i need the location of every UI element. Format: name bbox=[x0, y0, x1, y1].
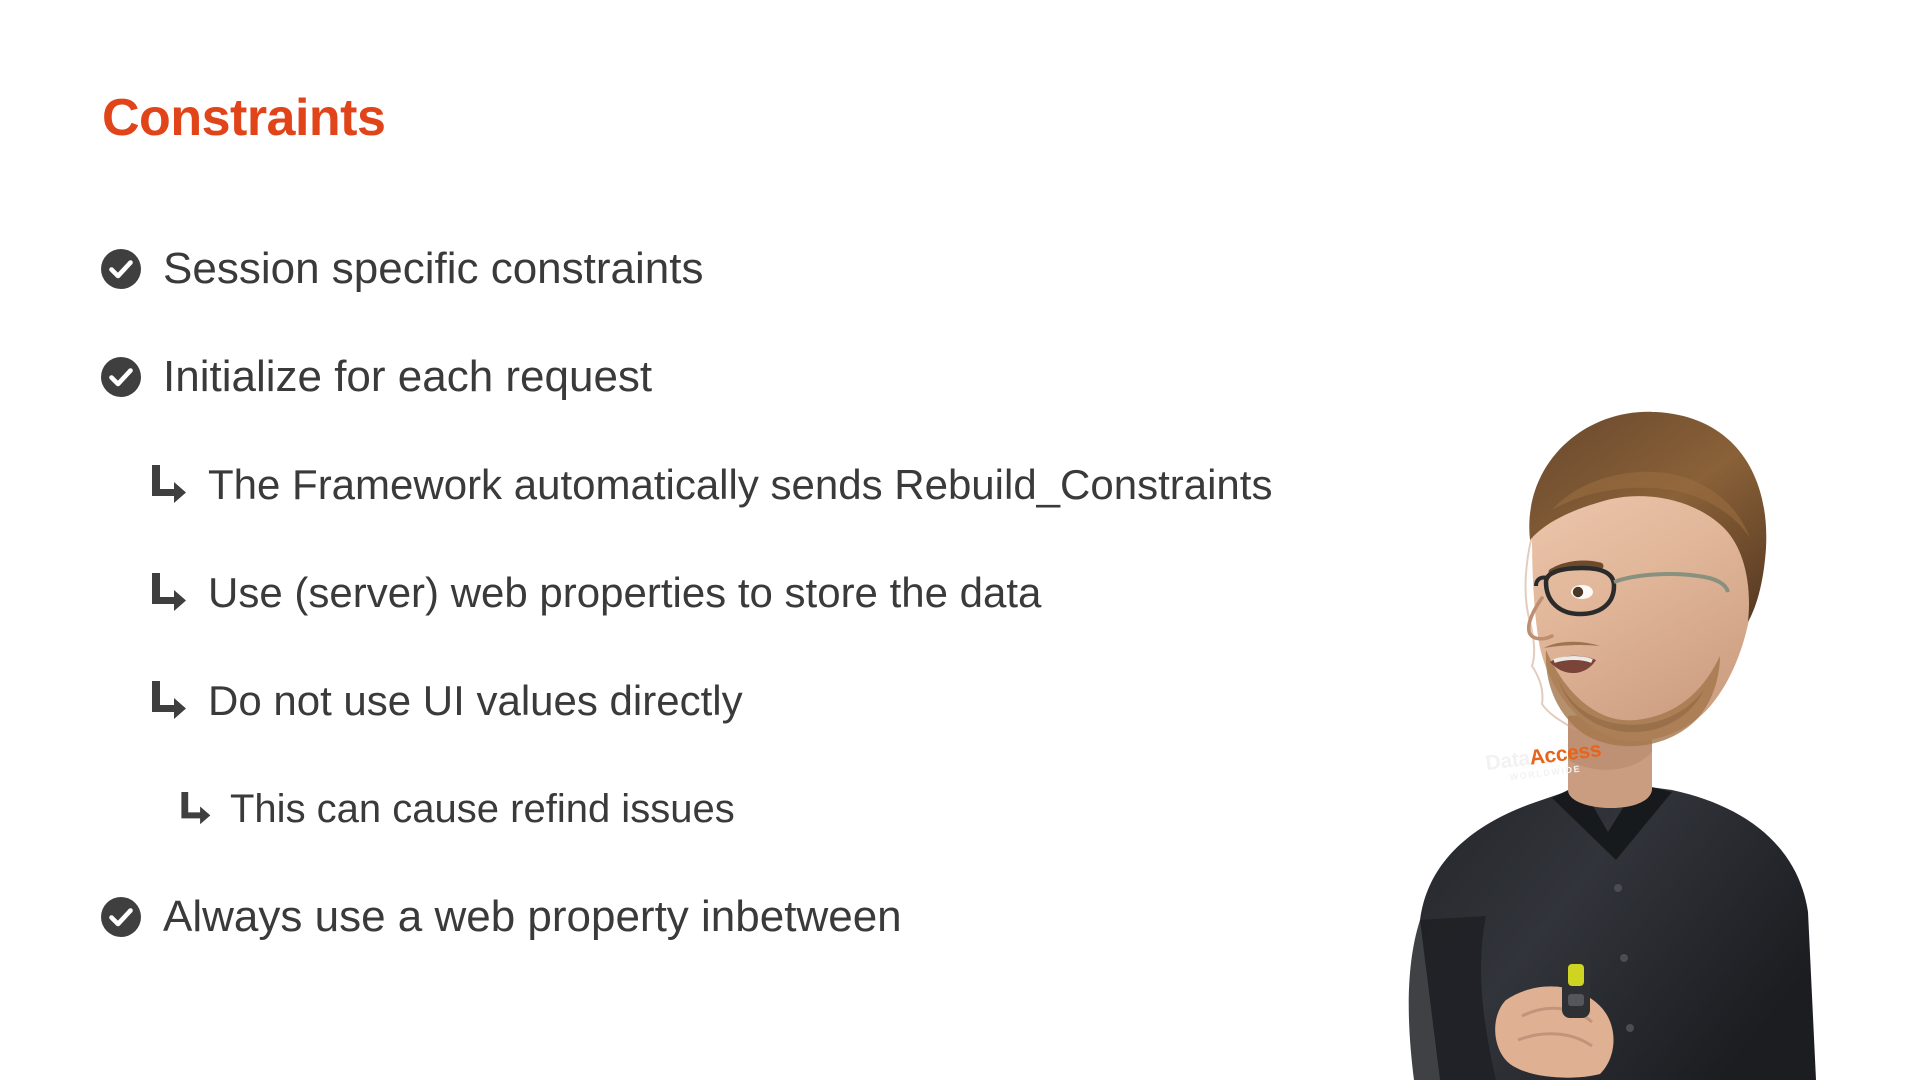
check-circle-icon bbox=[100, 356, 142, 398]
shirt-logo: DataAccess WORLDWIDE bbox=[1484, 739, 1603, 785]
list-item-label: Session specific constraints bbox=[163, 247, 703, 291]
page-title: Constraints bbox=[102, 88, 385, 148]
arrow-down-right-icon bbox=[148, 463, 188, 507]
check-circle-icon bbox=[100, 248, 142, 290]
list-item[interactable]: The Framework automatically sends Rebuil… bbox=[0, 431, 1400, 539]
list-item-label: This can cause refind issues bbox=[230, 789, 735, 829]
list-item-label: Always use a web property inbetween bbox=[163, 895, 902, 939]
logo-subtitle: WORLDWIDE bbox=[1487, 762, 1603, 785]
logo-word-access: Access bbox=[1528, 738, 1602, 770]
list-item[interactable]: Do not use UI values directly bbox=[0, 647, 1400, 755]
arrow-down-right-icon bbox=[148, 571, 188, 615]
list-item-label: The Framework automatically sends Rebuil… bbox=[208, 464, 1272, 506]
list-item-label: Use (server) web properties to store the… bbox=[208, 572, 1041, 614]
arrow-down-right-icon bbox=[148, 679, 188, 723]
list-item[interactable]: This can cause refind issues bbox=[0, 755, 1400, 863]
list-item[interactable]: Initialize for each request bbox=[0, 323, 1400, 431]
check-circle-icon bbox=[100, 896, 142, 938]
list-item[interactable]: Always use a web property inbetween bbox=[0, 863, 1400, 971]
list-item[interactable]: Session specific constraints bbox=[0, 215, 1400, 323]
bullet-list: Session specific constraints Initialize … bbox=[0, 215, 1400, 971]
list-item-label: Initialize for each request bbox=[163, 355, 652, 399]
slide-canvas: Constraints Session specific constraints… bbox=[0, 0, 1920, 1080]
list-item[interactable]: Use (server) web properties to store the… bbox=[0, 539, 1400, 647]
logo-word-data: Data bbox=[1484, 747, 1531, 775]
arrow-down-right-icon bbox=[178, 790, 212, 828]
list-item-label: Do not use UI values directly bbox=[208, 680, 743, 722]
